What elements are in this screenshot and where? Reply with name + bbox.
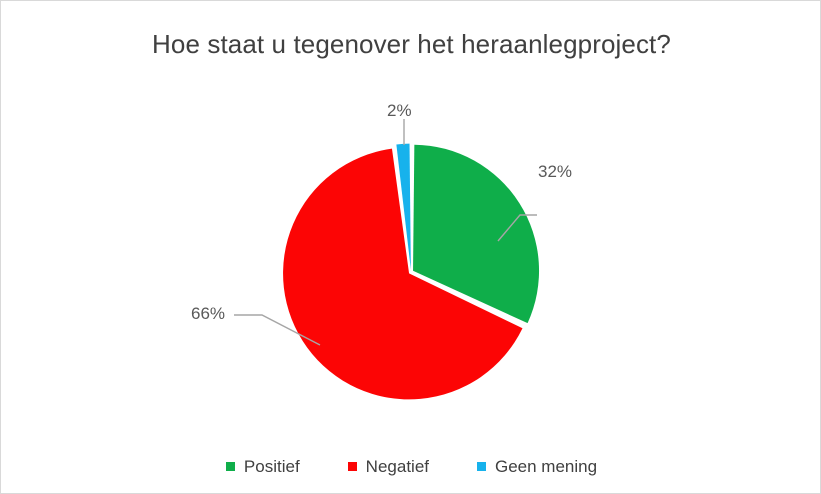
data-label-geen-mening: 2%	[387, 101, 412, 121]
legend-item-positief[interactable]: Positief	[226, 458, 300, 475]
pie-chart-svg	[1, 91, 821, 421]
legend-swatch-icon-negatief	[348, 462, 357, 471]
chart-container: Hoe staat u tegenover het heraanlegproje…	[0, 0, 821, 494]
chart-title: Hoe staat u tegenover het heraanlegproje…	[1, 29, 821, 60]
pie-plot-area	[1, 91, 821, 421]
legend-swatch-icon-positief	[226, 462, 235, 471]
legend-label-negatief: Negatief	[366, 458, 429, 475]
legend-item-geen-mening[interactable]: Geen mening	[477, 458, 597, 475]
data-label-negatief: 66%	[191, 304, 225, 324]
legend-label-positief: Positief	[244, 458, 300, 475]
chart-legend: Positief Negatief Geen mening	[1, 458, 821, 475]
legend-item-negatief[interactable]: Negatief	[348, 458, 429, 475]
legend-swatch-icon-geen-mening	[477, 462, 486, 471]
data-label-positief: 32%	[538, 162, 572, 182]
legend-label-geen-mening: Geen mening	[495, 458, 597, 475]
